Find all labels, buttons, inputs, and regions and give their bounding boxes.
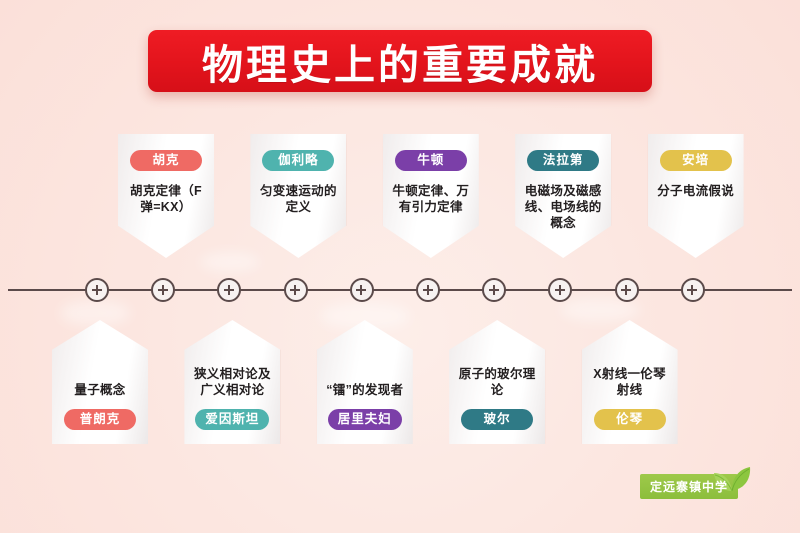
page-title: 物理史上的重要成就 bbox=[148, 30, 652, 92]
scientist-badge: 伽利略 bbox=[262, 150, 334, 171]
achievement-text: 电磁场及磁感线、电场线的概念 bbox=[522, 183, 604, 231]
timeline-node-plus-icon[interactable] bbox=[284, 278, 308, 302]
timeline-node-plus-icon[interactable] bbox=[85, 278, 109, 302]
timeline-node-plus-icon[interactable] bbox=[350, 278, 374, 302]
achievement-text: 牛顿定律、万有引力定律 bbox=[390, 183, 472, 215]
timeline-node-plus-icon[interactable] bbox=[416, 278, 440, 302]
infographic-canvas: 物理史上的重要成就 胡克胡克定律（F弹=KX）伽利略匀变速运动的定义牛顿牛顿定律… bbox=[0, 0, 800, 533]
achievement-text: 狭义相对论及广义相对论 bbox=[191, 366, 273, 398]
decorative-blob bbox=[200, 252, 260, 272]
achievement-text: 量子概念 bbox=[59, 382, 141, 398]
achievement-text: 原子的玻尔理论 bbox=[456, 366, 538, 398]
top-card[interactable]: 伽利略匀变速运动的定义 bbox=[250, 134, 346, 258]
scientist-badge: 玻尔 bbox=[461, 409, 533, 430]
scientist-badge: 安培 bbox=[660, 150, 732, 171]
timeline-node-plus-icon[interactable] bbox=[548, 278, 572, 302]
bottom-card[interactable]: “镭”的发现者居里夫妇 bbox=[317, 320, 413, 444]
scientist-badge: 居里夫妇 bbox=[328, 409, 402, 430]
scientist-badge: 普朗克 bbox=[64, 409, 136, 430]
timeline-node-plus-icon[interactable] bbox=[151, 278, 175, 302]
achievement-text: 胡克定律（F弹=KX） bbox=[125, 183, 207, 215]
achievement-text: 分子电流假说 bbox=[655, 183, 737, 199]
top-card[interactable]: 法拉第电磁场及磁感线、电场线的概念 bbox=[515, 134, 611, 258]
top-card[interactable]: 胡克胡克定律（F弹=KX） bbox=[118, 134, 214, 258]
achievement-text: X射线一伦琴射线 bbox=[589, 366, 671, 398]
achievement-text: 匀变速运动的定义 bbox=[257, 183, 339, 215]
title-text: 物理史上的重要成就 bbox=[148, 30, 652, 92]
decorative-blob bbox=[60, 300, 130, 326]
scientist-badge: 牛顿 bbox=[395, 150, 467, 171]
timeline-node-plus-icon[interactable] bbox=[217, 278, 241, 302]
bottom-card[interactable]: 原子的玻尔理论玻尔 bbox=[449, 320, 545, 444]
scientist-badge: 爱因斯坦 bbox=[195, 409, 269, 430]
bottom-card[interactable]: 量子概念普朗克 bbox=[52, 320, 148, 444]
scientist-badge: 法拉第 bbox=[527, 150, 599, 171]
scientist-badge: 胡克 bbox=[130, 150, 202, 171]
school-logo: 定远寨镇中学 bbox=[640, 470, 750, 500]
scientist-badge: 伦琴 bbox=[594, 409, 666, 430]
timeline-node-plus-icon[interactable] bbox=[615, 278, 639, 302]
top-card[interactable]: 牛顿牛顿定律、万有引力定律 bbox=[383, 134, 479, 258]
bottom-card[interactable]: 狭义相对论及广义相对论爱因斯坦 bbox=[184, 320, 280, 444]
timeline-axis bbox=[8, 289, 792, 291]
timeline-node-plus-icon[interactable] bbox=[482, 278, 506, 302]
bottom-card[interactable]: X射线一伦琴射线伦琴 bbox=[582, 320, 678, 444]
achievement-text: “镭”的发现者 bbox=[324, 382, 406, 398]
logo-text: 定远寨镇中学 bbox=[640, 474, 738, 499]
top-card[interactable]: 安培分子电流假说 bbox=[648, 134, 744, 258]
timeline-node-plus-icon[interactable] bbox=[681, 278, 705, 302]
